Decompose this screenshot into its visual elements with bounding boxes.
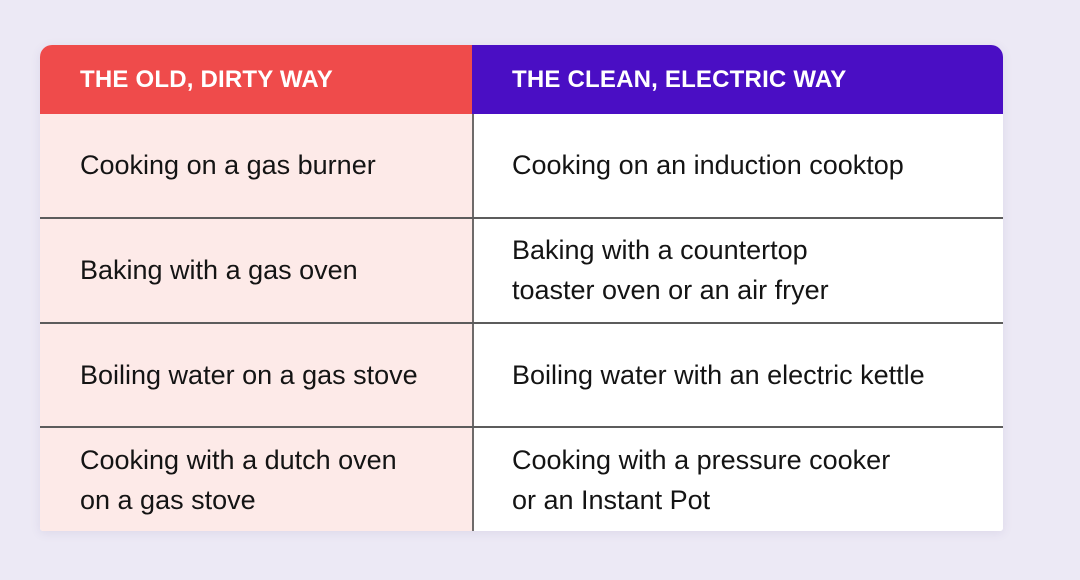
cell-clean-way: Boiling water with an electric kettle — [472, 324, 1003, 427]
comparison-table: THE OLD, DIRTY WAY THE CLEAN, ELECTRIC W… — [40, 45, 1003, 531]
cell-clean-way-text: Cooking with a pressure cookeror an Inst… — [512, 440, 890, 520]
cell-clean-way-text: Boiling water with an electric kettle — [512, 355, 925, 395]
column-header-old-way: THE OLD, DIRTY WAY — [40, 45, 472, 114]
cell-old-way-text: Cooking with a dutch ovenon a gas stove — [80, 440, 397, 520]
cell-old-way-text: Boiling water on a gas stove — [80, 355, 418, 395]
cell-old-way-text: Cooking on a gas burner — [80, 145, 376, 185]
page-canvas: THE OLD, DIRTY WAY THE CLEAN, ELECTRIC W… — [0, 0, 1080, 580]
cell-clean-way: Baking with a countertoptoaster oven or … — [472, 219, 1003, 322]
table-row: Baking with a gas oven Baking with a cou… — [40, 217, 1003, 322]
cell-old-way: Cooking with a dutch ovenon a gas stove — [40, 428, 472, 531]
column-header-clean-way-label: THE CLEAN, ELECTRIC WAY — [512, 66, 846, 94]
cell-old-way: Baking with a gas oven — [40, 219, 472, 322]
table-row: Cooking on a gas burner Cooking on an in… — [40, 114, 1003, 217]
table-row: Boiling water on a gas stove Boiling wat… — [40, 322, 1003, 427]
cell-old-way: Cooking on a gas burner — [40, 114, 472, 217]
cell-clean-way: Cooking with a pressure cookeror an Inst… — [472, 428, 1003, 531]
table-body: Cooking on a gas burner Cooking on an in… — [40, 114, 1003, 531]
cell-clean-way: Cooking on an induction cooktop — [472, 114, 1003, 217]
cell-old-way-text: Baking with a gas oven — [80, 250, 358, 290]
table-header-row: THE OLD, DIRTY WAY THE CLEAN, ELECTRIC W… — [40, 45, 1003, 114]
column-header-old-way-label: THE OLD, DIRTY WAY — [80, 66, 333, 94]
table-row: Cooking with a dutch ovenon a gas stove … — [40, 426, 1003, 531]
cell-old-way: Boiling water on a gas stove — [40, 324, 472, 427]
column-header-clean-way: THE CLEAN, ELECTRIC WAY — [472, 45, 1003, 114]
cell-clean-way-text: Baking with a countertoptoaster oven or … — [512, 230, 829, 310]
cell-clean-way-text: Cooking on an induction cooktop — [512, 145, 904, 185]
